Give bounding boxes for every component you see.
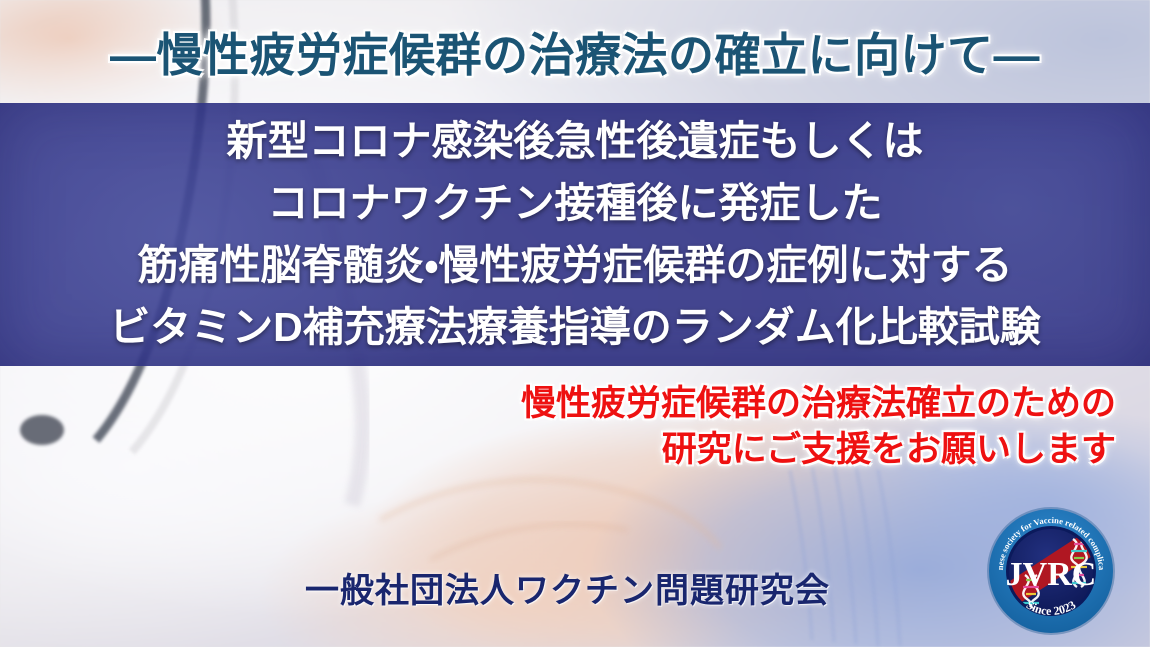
support-appeal: 慢性疲労症候群の治療法確立のための 研究にご支援をお願いします bbox=[521, 381, 1116, 472]
top-title-band: ―慢性疲労症候群の治療法の確立に向けて― bbox=[0, 0, 1150, 103]
jvrc-acronym: JVRC bbox=[1006, 556, 1097, 593]
study-title-line-1: 新型コロナ感染後急性後遺症もしくは bbox=[227, 121, 924, 162]
support-appeal-line-2: 研究にご支援をお願いします bbox=[521, 427, 1116, 473]
study-title-line-3: 筋痛性脳脊髄炎・慢性疲労症候群の症例に対する bbox=[138, 245, 1013, 286]
page-title: ―慢性疲労症候群の治療法の確立に向けて― bbox=[110, 19, 1040, 85]
jvrc-logo-graphic: JVRC Japanese society for Vaccine relate… bbox=[985, 505, 1117, 637]
poster-canvas: ―慢性疲労症候群の治療法の確立に向けて― 新型コロナ感染後急性後遺症もしくは コ… bbox=[0, 0, 1150, 647]
jvrc-logo: JVRC Japanese society for Vaccine relate… bbox=[985, 505, 1117, 637]
organization-name: 一般社団法人ワクチン問題研究会 bbox=[305, 563, 830, 612]
study-title-line-4: ビタミンD補充療法療養指導のランダム化比較試験 bbox=[109, 307, 1041, 348]
support-appeal-line-1: 慢性疲労症候群の治療法確立のための bbox=[521, 381, 1116, 427]
study-title-banner: 新型コロナ感染後急性後遺症もしくは コロナワクチン接種後に発症した 筋痛性脳脊髄… bbox=[0, 103, 1150, 366]
study-title-line-2: コロナワクチン接種後に発症した bbox=[268, 183, 883, 224]
